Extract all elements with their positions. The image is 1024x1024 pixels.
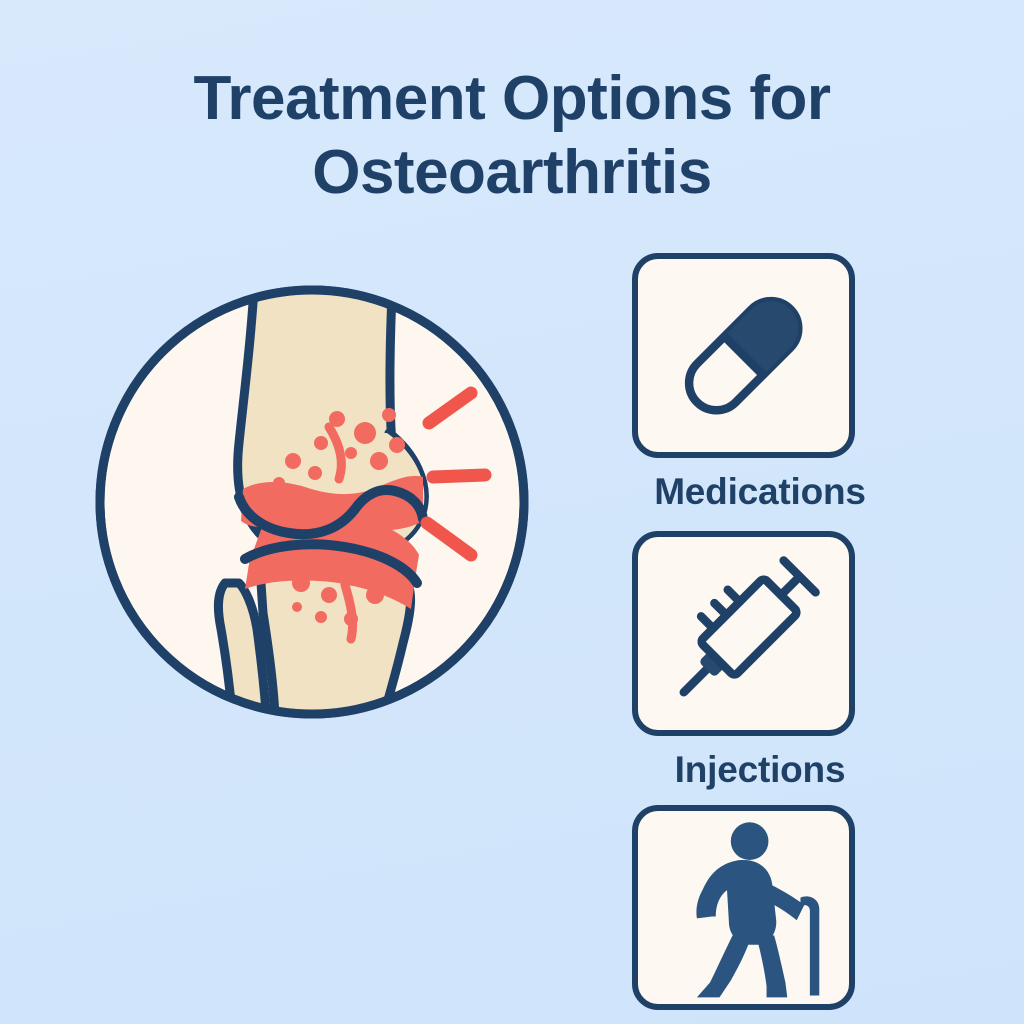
infographic-poster: Treatment Options for Osteoarthritis [0, 0, 1024, 1024]
title-line-1: Treatment Options for [0, 62, 1024, 136]
treatment-option-injections[interactable]: Injections [560, 531, 960, 792]
arthritic-knee-illustration [93, 283, 531, 721]
title-line-2: Osteoarthritis [0, 136, 1024, 210]
injections-card[interactable] [632, 531, 855, 736]
pill-capsule-icon [638, 259, 849, 452]
medications-card[interactable] [632, 253, 855, 458]
person-walking-with-cane-icon [638, 811, 849, 1004]
physical-therapy-card[interactable] [632, 805, 855, 1010]
option-label-injections: Injections [560, 748, 960, 792]
treatment-option-medications[interactable]: Medications [560, 253, 960, 514]
option-label-medications: Medications [560, 470, 960, 514]
page-title: Treatment Options for Osteoarthritis [0, 62, 1024, 210]
pain-line-middle [433, 475, 485, 477]
syringe-icon [638, 537, 849, 730]
treatment-option-physical-therapy[interactable]: Physical therapy [560, 805, 960, 1024]
